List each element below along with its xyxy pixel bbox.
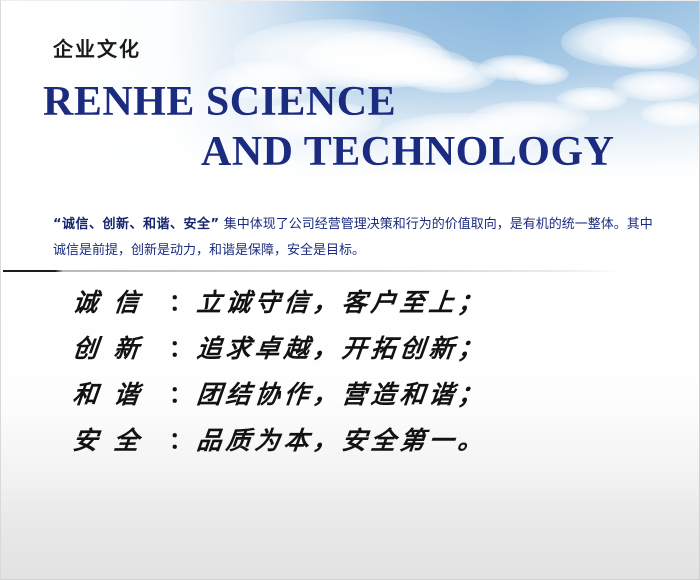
value-statement: 立诚守信，客户至上； — [195, 283, 489, 319]
value-label: 创新 — [71, 329, 157, 365]
values-calligraphy-list: 诚信 ： 立诚守信，客户至上； 创新 ： 追求卓越，开拓创新； 和谐 ： 团结协… — [1, 283, 700, 467]
section-divider — [3, 270, 623, 272]
intro-paragraph: “诚信、创新、和谐、安全” 集中体现了公司经营管理决策和行为的价值取向，是有机的… — [53, 212, 653, 264]
value-label: 和谐 — [71, 375, 157, 411]
value-row: 和谐 ： 团结协作，营造和谐； — [1, 375, 700, 421]
value-statement: 品质为本，安全第一。 — [195, 421, 489, 457]
page-title: 企业文化 — [53, 33, 141, 62]
value-statement: 团结协作，营造和谐； — [195, 375, 489, 411]
english-title-line2: AND TECHNOLOGY — [1, 127, 700, 177]
value-row: 安全 ： 品质为本，安全第一。 — [1, 421, 700, 467]
value-colon: ： — [169, 375, 192, 409]
english-title: RENHE SCIENCE AND TECHNOLOGY — [1, 77, 700, 177]
intro-quoted-values: “诚信、创新、和谐、安全” — [53, 217, 220, 232]
value-colon: ： — [169, 329, 192, 363]
value-colon: ： — [169, 283, 192, 317]
corporate-culture-page: 企业文化 RENHE SCIENCE AND TECHNOLOGY “诚信、创新… — [0, 0, 700, 580]
value-row: 创新 ： 追求卓越，开拓创新； — [1, 329, 700, 375]
english-title-line1: RENHE SCIENCE — [1, 77, 700, 127]
value-colon: ： — [169, 421, 192, 455]
value-label: 诚信 — [71, 283, 157, 319]
value-row: 诚信 ： 立诚守信，客户至上； — [1, 283, 700, 329]
value-label: 安全 — [71, 421, 157, 457]
value-statement: 追求卓越，开拓创新； — [195, 329, 489, 365]
